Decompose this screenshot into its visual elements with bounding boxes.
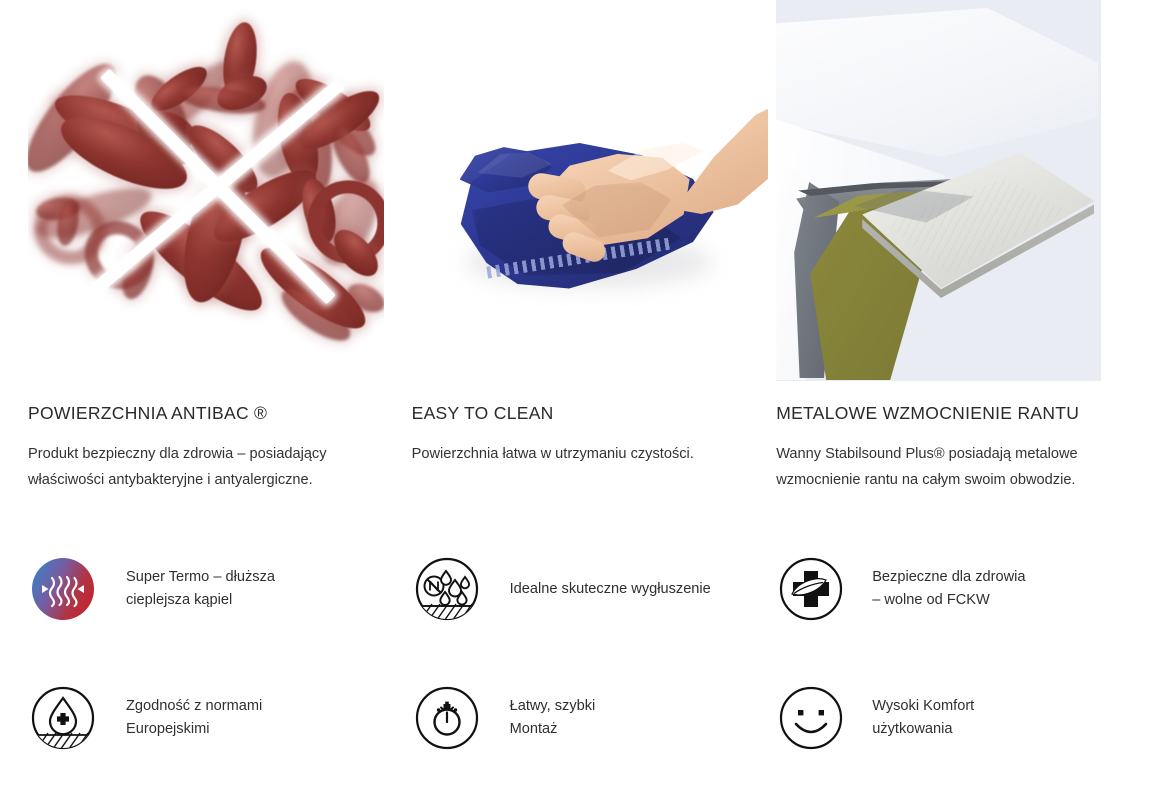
- bacteria-illustration: [28, 0, 384, 381]
- badge-sound-insulation: Idealne skuteczne wygłuszenie: [384, 556, 768, 622]
- badge-eu-standards: Zgodność z normami Europejskimi: [0, 685, 384, 751]
- benefit-badge-grid: Super Termo – dłuższa cieplejsza kąpiel: [0, 556, 1151, 751]
- badge-row: Super Termo – dłuższa cieplejsza kąpiel: [0, 556, 1151, 622]
- sound-insulation-droplets-icon: [414, 556, 480, 622]
- badge-super-termo: Super Termo – dłuższa cieplejsza kąpiel: [0, 556, 384, 622]
- bathtub-edge-illustration: [776, 0, 1101, 381]
- smiley-face-icon: [778, 685, 844, 751]
- feature-title: POWIERZCHNIA ANTIBAC ®: [28, 403, 354, 424]
- badge-label: Idealne skuteczne wygłuszenie: [510, 578, 711, 601]
- bathtub-rim-reinforcement-image: [776, 0, 1101, 381]
- badge-label: Super Termo – dłuższa cieplejsza kąpiel: [126, 566, 275, 612]
- hand-wiping-cloth-image: [412, 0, 768, 381]
- leaf-cross-health-icon: [778, 556, 844, 622]
- feature-card-antibac: POWIERZCHNIA ANTIBAC ® Produkt bezpieczn…: [0, 0, 384, 493]
- feature-title: EASY TO CLEAN: [412, 403, 738, 424]
- badge-label: Wysoki Komfort użytkowania: [872, 695, 974, 741]
- feature-description: Powierzchnia łatwa w utrzymaniu czystośc…: [412, 441, 738, 467]
- stopwatch-icon: [414, 685, 480, 751]
- badge-label: Bezpieczne dla zdrowia – wolne od FCKW: [872, 566, 1025, 612]
- thermal-waves-gradient-icon: [30, 556, 96, 622]
- cloth-and-hand-illustration: [412, 0, 768, 381]
- badge-label: Łatwy, szybki Montaż: [510, 695, 596, 741]
- feature-description: Wanny Stabilsound Plus® posiadają metalo…: [776, 441, 1096, 493]
- badge-label: Zgodność z normami Europejskimi: [126, 695, 262, 741]
- badge-easy-assembly: Łatwy, szybki Montaż: [384, 685, 768, 751]
- droplet-cross-standards-icon: [30, 685, 96, 751]
- badge-health-safe: Bezpieczne dla zdrowia – wolne od FCKW: [767, 556, 1151, 622]
- badge-high-comfort: Wysoki Komfort użytkowania: [767, 685, 1151, 751]
- feature-highlights-row: POWIERZCHNIA ANTIBAC ® Produkt bezpieczn…: [0, 0, 1151, 493]
- badge-row: Zgodność z normami Europejskimi Łatwy, s…: [0, 685, 1151, 751]
- feature-title: METALOWE WZMOCNIENIE RANTU: [776, 403, 1137, 424]
- feature-card-metal-rim: METALOWE WZMOCNIENIE RANTU Wanny Stabils…: [767, 0, 1151, 493]
- feature-card-easy-to-clean: EASY TO CLEAN Powierzchnia łatwa w utrzy…: [384, 0, 768, 493]
- feature-description: Produkt bezpieczny dla zdrowia – posiada…: [28, 441, 354, 493]
- bacteria-crossed-out-image: [28, 0, 384, 381]
